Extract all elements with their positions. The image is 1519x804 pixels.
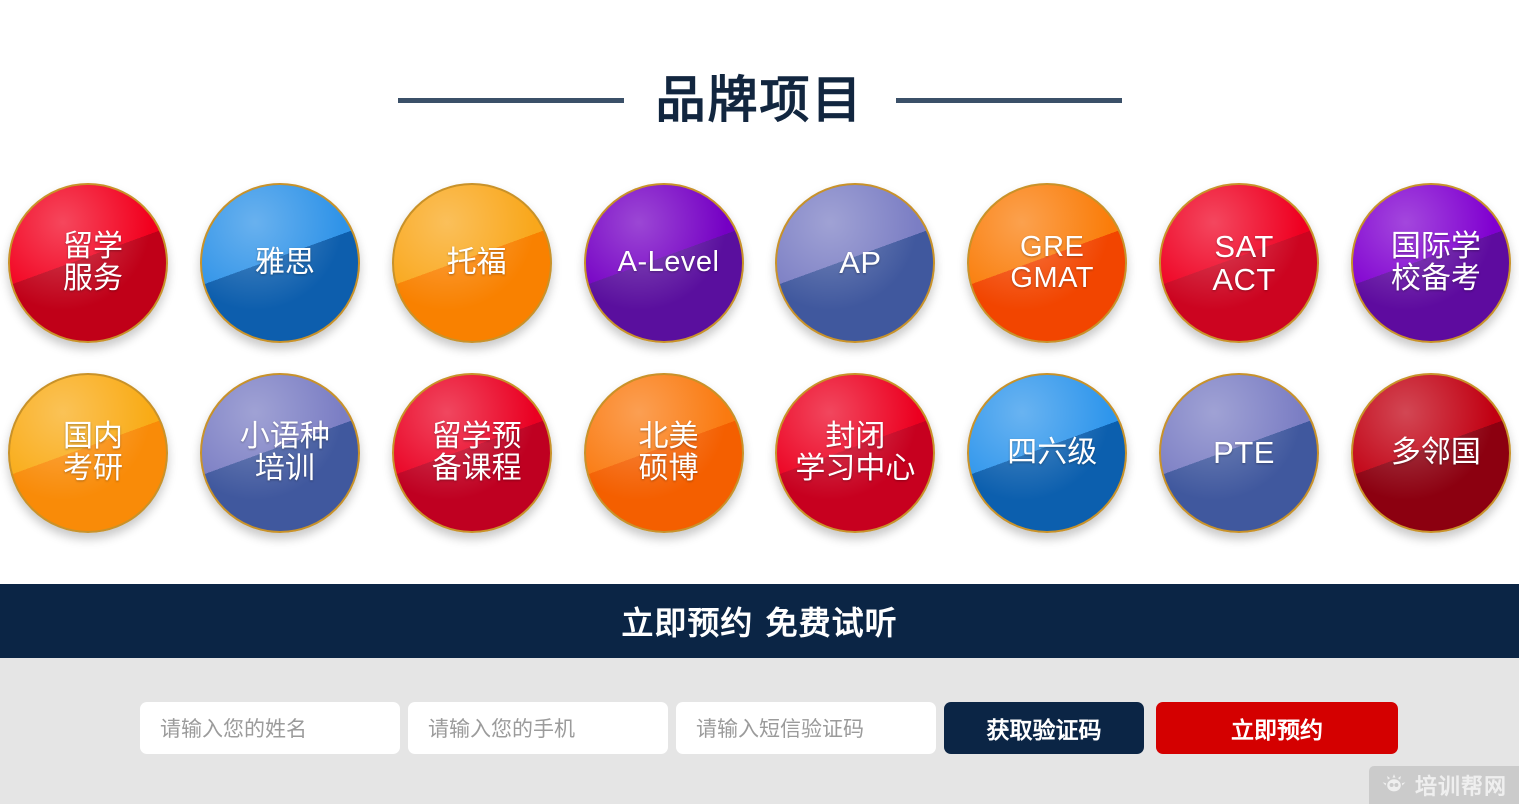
program-bubble-label-line: 国内 (63, 421, 123, 453)
watermark-text: 培训帮网 (1415, 769, 1507, 801)
program-bubble[interactable]: 国际学校备考 (1351, 183, 1511, 343)
page-header: 品牌项目 (0, 62, 1519, 138)
program-bubble-label: 四六级 (997, 437, 1097, 469)
program-bubble-label-line: 小语种 (240, 421, 330, 453)
program-bubble-label-line: 北美 (639, 421, 699, 453)
submit-booking-button[interactable]: 立即预约 (1156, 702, 1398, 754)
program-bubble[interactable]: 小语种培训 (200, 373, 360, 533)
title-rule-right (896, 98, 1122, 103)
page-title: 品牌项目 (656, 75, 864, 125)
program-bubble[interactable]: 留学预备课程 (392, 373, 552, 533)
program-bubble[interactable]: 留学服务 (8, 183, 168, 343)
program-bubble-label-line: 四六级 (1007, 437, 1097, 469)
program-bubble-label: GREGMAT (1000, 232, 1094, 295)
program-bubble-label-line: 留学预 (432, 421, 522, 453)
program-bubble-label: 国际学校备考 (1381, 231, 1481, 296)
program-bubble-label: AP (829, 246, 881, 279)
program-bubble-label-line: 学习中心 (795, 453, 915, 485)
program-bubble-label-line: PTE (1213, 436, 1275, 469)
name-input[interactable]: 请输入您的姓名 (140, 702, 400, 754)
sms-code-input-placeholder: 请输入短信验证码 (696, 713, 864, 743)
program-bubble-label: 留学预备课程 (422, 421, 522, 486)
program-bubble-label: 雅思 (245, 247, 315, 279)
program-bubble-label: 小语种培训 (230, 421, 330, 486)
site-watermark: 培训帮网 (1369, 766, 1519, 804)
program-bubble-label-line: GMAT (1010, 263, 1094, 294)
program-bubble[interactable]: 四六级 (967, 373, 1127, 533)
sms-code-input[interactable]: 请输入短信验证码 (676, 702, 936, 754)
program-bubble-label-line: 备课程 (432, 453, 522, 485)
title-rule-left (398, 98, 624, 103)
sun-eye-icon (1381, 773, 1407, 797)
program-bubble-label-line: ACT (1212, 263, 1276, 296)
program-bubble[interactable]: 封闭学习中心 (775, 373, 935, 533)
program-bubble-label: A-Level (608, 247, 720, 278)
program-bubble[interactable]: A-Level (584, 183, 744, 343)
program-bubble-label-line: AP (839, 246, 881, 279)
program-bubble-label-line: 校备考 (1391, 263, 1481, 295)
cta-banner: 立即预约 免费试听 (0, 584, 1519, 658)
program-bubble-label-line: 托福 (447, 247, 507, 279)
program-bubble-label-line: 多邻国 (1391, 437, 1481, 469)
name-input-placeholder: 请输入您的姓名 (160, 713, 307, 743)
booking-form-area: 请输入您的姓名 请输入您的手机 请输入短信验证码 获取验证码 立即预约 (0, 658, 1519, 804)
program-bubble-label: SATACT (1202, 230, 1276, 297)
program-bubble-label: PTE (1203, 436, 1275, 469)
phone-input-placeholder: 请输入您的手机 (428, 713, 575, 743)
program-row-2: 国内考研小语种培训留学预备课程北美硕博封闭学习中心四六级PTE多邻国 (8, 373, 1511, 533)
program-bubble-label-line: 留学 (63, 231, 123, 263)
program-grid: 留学服务雅思托福A-LevelAPGREGMATSATACT国际学校备考 国内考… (8, 183, 1511, 533)
program-bubble-label: 封闭学习中心 (795, 421, 915, 486)
program-bubble-label-line: 考研 (63, 453, 123, 485)
program-bubble[interactable]: PTE (1159, 373, 1319, 533)
program-bubble-label-line: A-Level (618, 247, 720, 278)
program-bubble-label-line: 服务 (63, 263, 123, 295)
program-bubble[interactable]: GREGMAT (967, 183, 1127, 343)
program-bubble-label: 多邻国 (1381, 437, 1481, 469)
program-bubble-label: 国内考研 (53, 421, 123, 486)
program-bubble-label-line: 国际学 (1391, 231, 1481, 263)
cta-banner-text: 立即预约 免费试听 (621, 598, 897, 644)
program-bubble[interactable]: AP (775, 183, 935, 343)
program-bubble[interactable]: 国内考研 (8, 373, 168, 533)
program-bubble-label-line: GRE (1010, 232, 1094, 263)
program-bubble-label-line: SAT (1212, 230, 1276, 263)
program-bubble[interactable]: 多邻国 (1351, 373, 1511, 533)
program-bubble-label-line: 雅思 (255, 247, 315, 279)
booking-form-row: 请输入您的姓名 请输入您的手机 请输入短信验证码 获取验证码 立即预约 (140, 702, 1398, 754)
program-bubble[interactable]: 雅思 (200, 183, 360, 343)
program-row-1: 留学服务雅思托福A-LevelAPGREGMATSATACT国际学校备考 (8, 183, 1511, 343)
phone-input[interactable]: 请输入您的手机 (408, 702, 668, 754)
program-bubble-label: 留学服务 (53, 231, 123, 296)
program-bubble-label-line: 封闭 (795, 421, 915, 453)
program-bubble[interactable]: SATACT (1159, 183, 1319, 343)
program-bubble-label: 北美硕博 (629, 421, 699, 486)
program-bubble-label-line: 培训 (240, 453, 330, 485)
program-bubble-label-line: 硕博 (639, 453, 699, 485)
program-bubble[interactable]: 托福 (392, 183, 552, 343)
program-bubble[interactable]: 北美硕博 (584, 373, 744, 533)
get-verification-code-button[interactable]: 获取验证码 (944, 702, 1144, 754)
program-bubble-label: 托福 (437, 247, 507, 279)
